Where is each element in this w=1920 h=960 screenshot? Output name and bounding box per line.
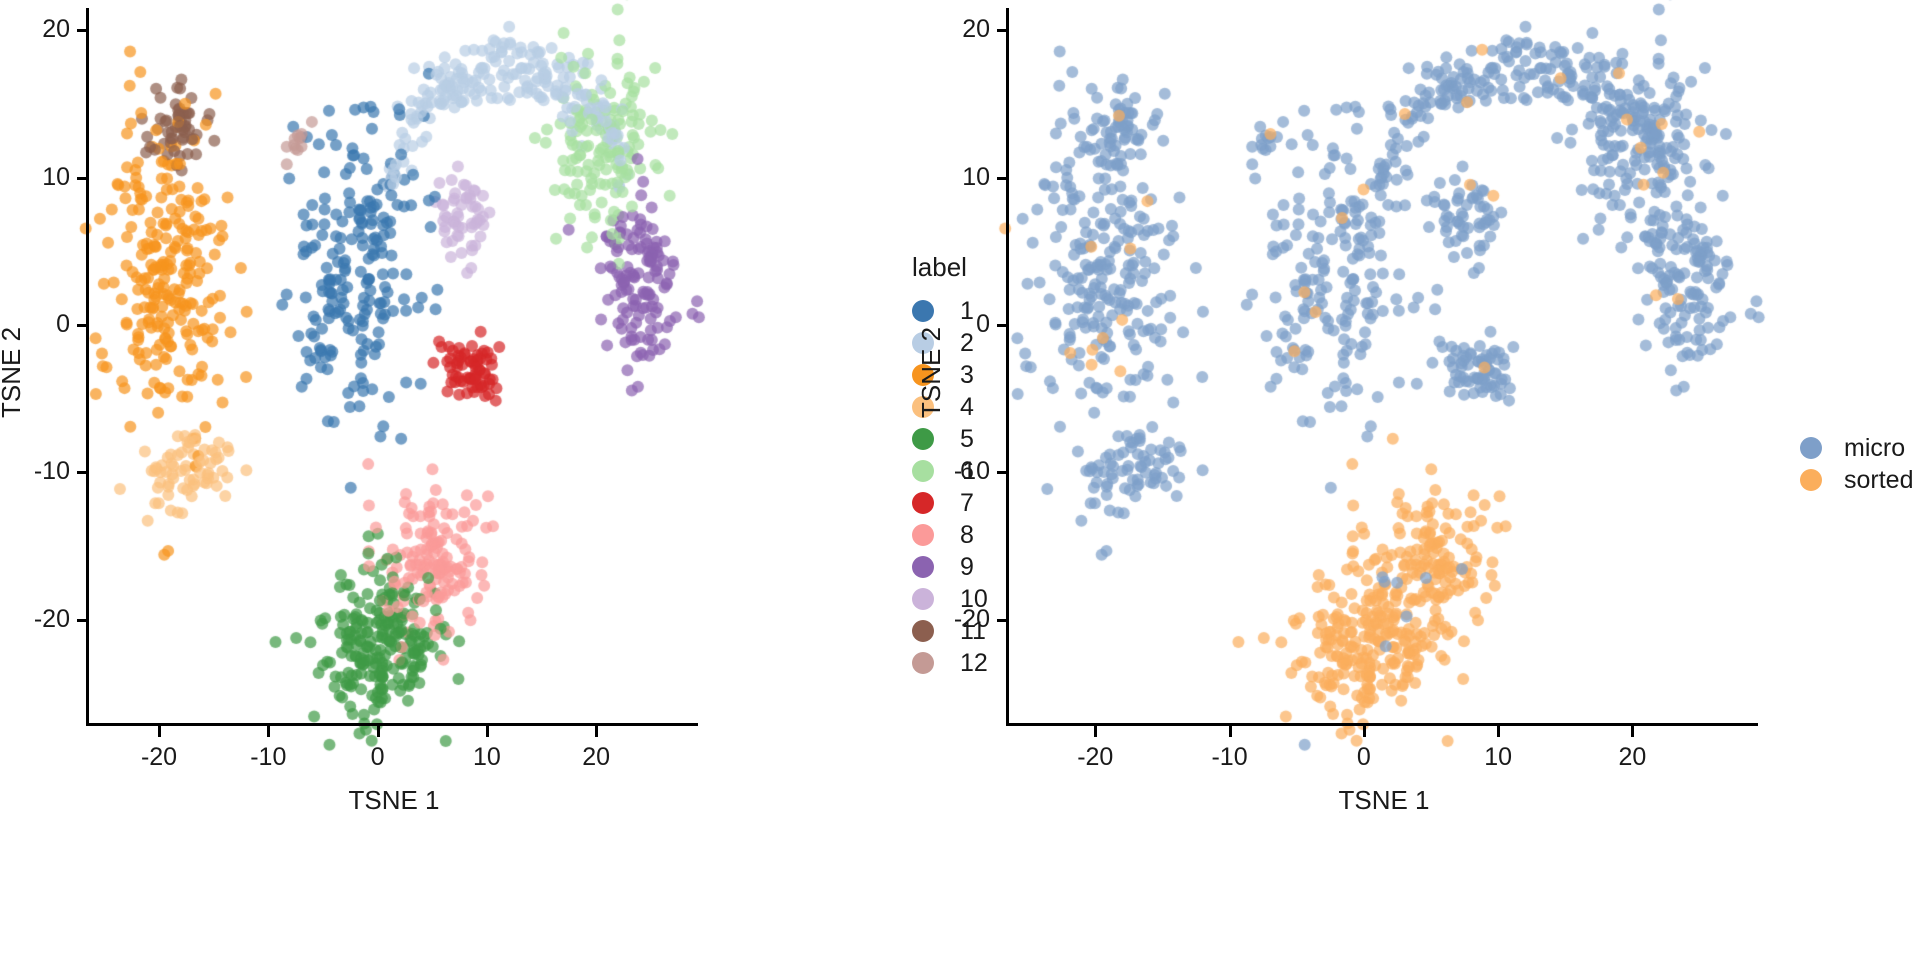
x-tick-label: -20 (1069, 743, 1121, 772)
x-tick-mark (1094, 726, 1097, 737)
y-tick-mark (77, 324, 87, 327)
legend-color-swatch (1800, 437, 1822, 459)
y-tick-label: 10 (962, 163, 990, 192)
x-tick-mark (1363, 726, 1366, 737)
y-axis-title-left: TSNE 2 (0, 326, 27, 417)
x-tick-label: 10 (461, 743, 513, 772)
y-tick-mark (997, 29, 1007, 32)
x-tick-label: 10 (1472, 743, 1524, 772)
x-tick-label: -10 (242, 743, 294, 772)
y-tick-label: -10 (34, 457, 70, 486)
x-tick-mark (158, 726, 161, 737)
legend-item-micro[interactable]: micro (1800, 432, 1913, 464)
y-tick-label: -20 (34, 605, 70, 634)
x-axis-line-right (1006, 723, 1758, 726)
y-tick-label: -20 (954, 605, 990, 634)
x-tick-label: -20 (133, 743, 185, 772)
y-axis-title-right: TSNE 2 (916, 326, 947, 417)
scatter-panel-right: 20100-10-20 -20-1001020 TSNE 1 TSNE 2 mi… (840, 0, 1920, 960)
x-axis-line-left (86, 723, 698, 726)
x-axis-title-right: TSNE 1 (1314, 785, 1454, 816)
y-tick-label: 0 (976, 310, 990, 339)
y-tick-mark (77, 29, 87, 32)
y-tick-mark (77, 177, 87, 180)
y-tick-label: 20 (962, 15, 990, 44)
y-tick-label: -10 (954, 457, 990, 486)
x-tick-label: 20 (570, 743, 622, 772)
x-tick-label: 0 (1338, 743, 1390, 772)
legend-right: microsorted (1800, 432, 1913, 496)
legend-item-label: sorted (1844, 466, 1913, 495)
y-tick-label: 20 (42, 15, 70, 44)
scatter-points-right (840, 0, 1920, 960)
x-tick-mark (595, 726, 598, 737)
y-tick-mark (997, 177, 1007, 180)
scatter-panel-left: 20100-10-20 -20-1001020 TSNE 1 TSNE 2 la… (0, 0, 840, 960)
y-tick-label: 10 (42, 163, 70, 192)
x-tick-mark (377, 726, 380, 737)
y-tick-mark (997, 619, 1007, 622)
x-tick-mark (1631, 726, 1634, 737)
scatter-points-left (0, 0, 840, 960)
legend-entries-right: microsorted (1800, 432, 1913, 496)
x-tick-mark (1229, 726, 1232, 737)
legend-item-sorted[interactable]: sorted (1800, 464, 1913, 496)
x-axis-title-left: TSNE 1 (324, 785, 464, 816)
y-tick-mark (997, 471, 1007, 474)
y-tick-mark (997, 324, 1007, 327)
legend-color-swatch (1800, 469, 1822, 491)
x-tick-label: -10 (1204, 743, 1256, 772)
x-tick-mark (1497, 726, 1500, 737)
x-tick-label: 20 (1606, 743, 1658, 772)
figure-root: 20100-10-20 -20-1001020 TSNE 1 TSNE 2 la… (0, 0, 1920, 960)
y-axis-line-right (1006, 8, 1009, 723)
x-tick-label: 0 (352, 743, 404, 772)
y-tick-label: 0 (56, 310, 70, 339)
y-axis-line-left (86, 8, 89, 723)
x-tick-mark (486, 726, 489, 737)
x-tick-mark (267, 726, 270, 737)
y-tick-mark (77, 471, 87, 474)
legend-item-label: micro (1844, 434, 1905, 463)
y-tick-mark (77, 619, 87, 622)
